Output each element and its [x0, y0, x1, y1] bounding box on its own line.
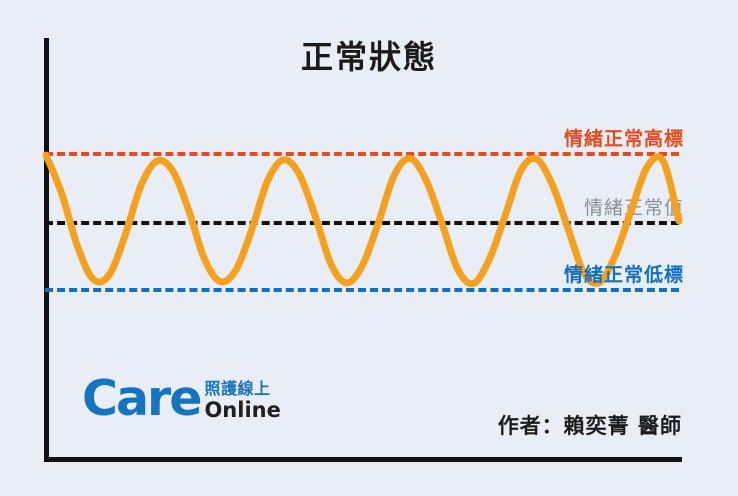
threshold-line-high	[45, 152, 679, 156]
care-online-logo: Care 照護線上 Online	[82, 376, 281, 423]
author-credit: 作者：賴奕菁 醫師	[498, 410, 682, 440]
y-axis	[44, 38, 49, 462]
logo-online-text: Online	[204, 399, 280, 421]
threshold-label-low: 情緒正常低標	[564, 260, 684, 287]
threshold-line-normal	[45, 221, 679, 225]
threshold-label-normal: 情緒正常值	[584, 193, 684, 220]
logo-chinese-text: 照護線上	[204, 380, 280, 398]
chart-figure: 正常狀態 情緒正常值 情緒正常高標 情緒正常低標 Care 照護線上 Onlin…	[0, 0, 738, 496]
logo-right-block: 照護線上 Online	[204, 380, 280, 422]
threshold-line-low	[45, 288, 679, 292]
threshold-label-high: 情緒正常高標	[564, 124, 684, 151]
page-title: 正常狀態	[0, 32, 738, 78]
logo-care-text: Care	[82, 376, 200, 423]
x-axis	[44, 457, 682, 462]
